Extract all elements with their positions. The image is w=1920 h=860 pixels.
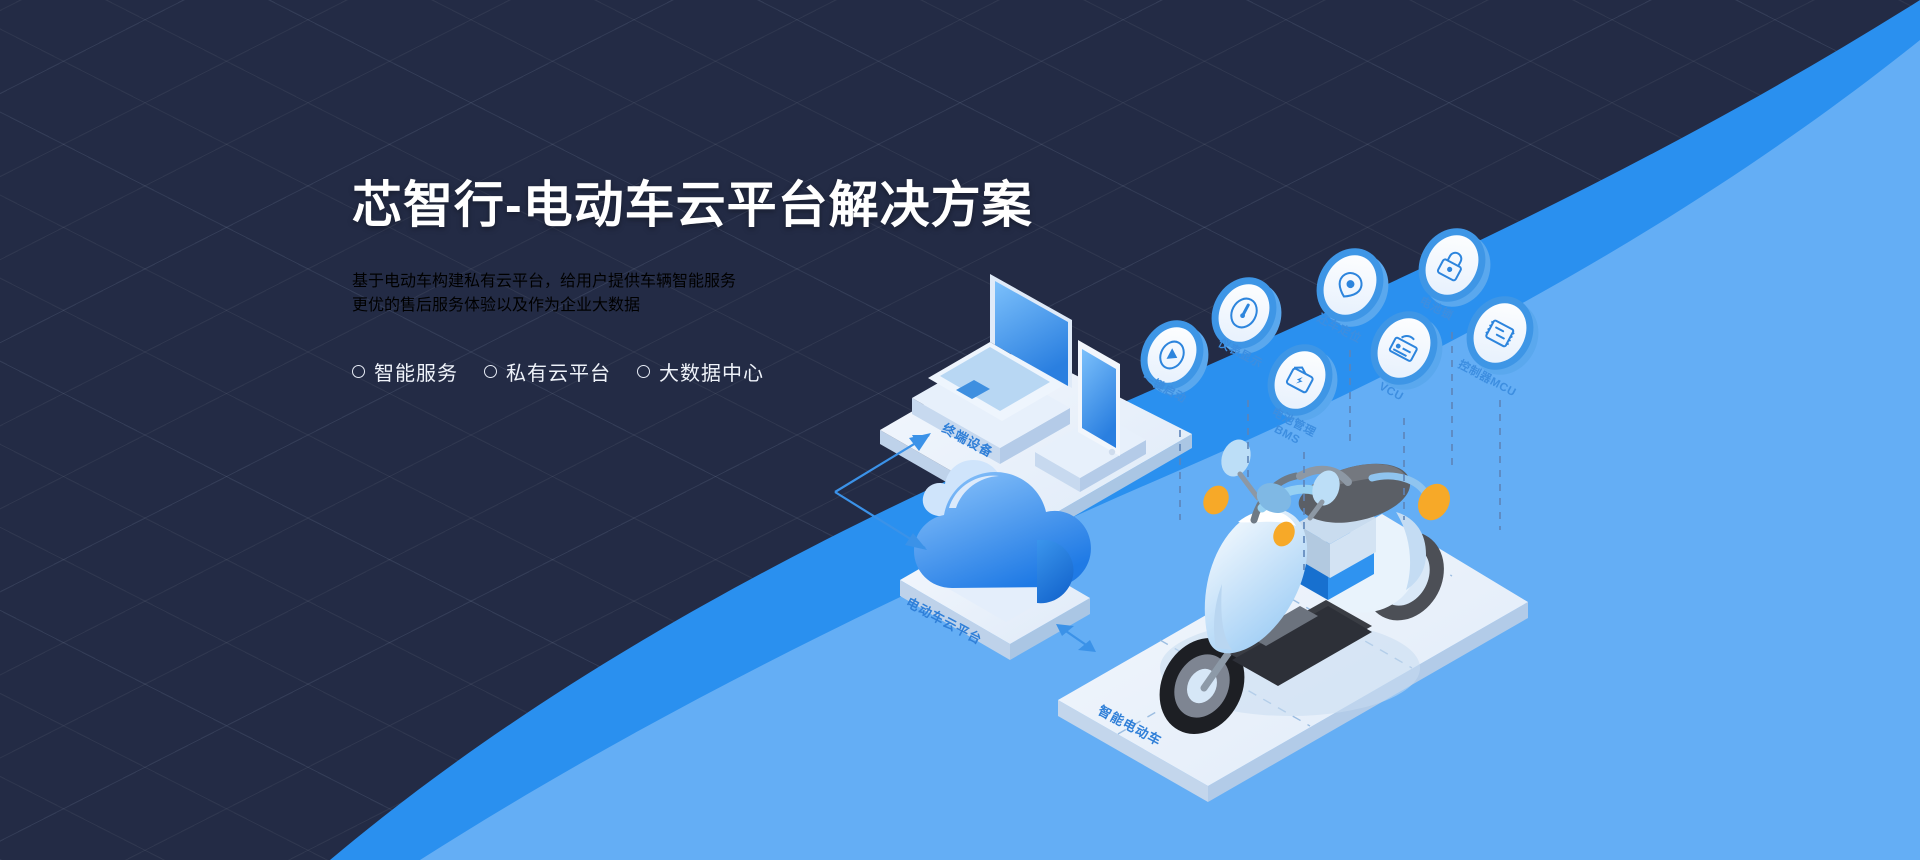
phone-riser-side [1080, 440, 1146, 492]
slab-side [1040, 434, 1192, 536]
badge-label-5: 电池锁 [1417, 294, 1456, 324]
feature-bullet-2[interactable]: 大数据中心 [637, 357, 764, 386]
badge-label-0: 一键启动 [1139, 372, 1188, 407]
badge-label-4: VCU [1376, 380, 1406, 405]
feature-bullet-label: 大数据中心 [659, 357, 764, 386]
page-title: 芯智行-电动车云平台解决方案 [352, 178, 1112, 233]
cloud-icon [914, 472, 1091, 588]
circle-ring-icon [484, 365, 497, 378]
platform-label-cloud: 电动车云平台 [903, 592, 986, 648]
feature-bullet-0[interactable]: 智能服务 [352, 357, 458, 386]
cloud-icon-shadow [1037, 540, 1073, 603]
slab-dashed-grid [1118, 524, 1452, 734]
badge-label-2: 电池管理 BMS [1262, 405, 1318, 453]
location-pin-icon [1334, 269, 1365, 301]
platform-label-vehicle: 智能电动车 [1095, 700, 1166, 750]
wave-light-blue [420, 40, 1920, 860]
connector-terminal-cloud [835, 433, 931, 550]
circle-ring-icon [637, 365, 650, 378]
control-unit-icon [1389, 331, 1420, 362]
feature-bullet-1[interactable]: 私有云平台 [484, 357, 611, 386]
mcu-chip-icon [1484, 319, 1516, 348]
slab-side [1010, 598, 1090, 660]
connector-cloud-vehicle [1056, 624, 1096, 652]
laptop-riser-side [1000, 408, 1070, 464]
badge-label-3: 还车定位 [1314, 312, 1363, 347]
power-button-icon [1156, 337, 1189, 372]
hero-copy: 芯智行-电动车云平台解决方案 基于电动车构建私有云平台，给用户提供车辆智能服务 … [352, 178, 1112, 386]
slab-top [1058, 514, 1528, 786]
platform-label-terminal: 终端设备 [939, 418, 997, 461]
cloud-icon-highlight [949, 476, 999, 508]
gauge-icon [1226, 294, 1261, 332]
feature-bullet-label: 智能服务 [374, 357, 458, 386]
badge-label-1: 仪表显示 [1215, 337, 1264, 372]
slab-top [900, 534, 1090, 644]
badge-label-6: 控制器MCU [1455, 358, 1518, 401]
feature-bullet-label: 私有云平台 [506, 357, 611, 386]
subtitle-line-1: 基于电动车构建私有云平台，给用户提供车辆智能服务 [352, 267, 1112, 291]
cloud-icon-back [923, 460, 1031, 523]
hero-banner: 芯智行-电动车云平台解决方案 基于电动车构建私有云平台，给用户提供车辆智能服务 … [0, 0, 1920, 860]
slab-side [1208, 602, 1528, 802]
scooter-icon [1143, 435, 1459, 749]
subtitle-line-2: 更优的售后服务体验以及作为企业大数据 [352, 291, 1112, 315]
phone-home-button [1109, 449, 1115, 455]
phone-riser-side [1035, 452, 1080, 492]
scooter-shadow [1160, 620, 1420, 716]
lock-icon [1437, 249, 1467, 281]
platform-cloud[interactable] [900, 460, 1091, 660]
feature-bullet-list: 智能服务 私有云平台 大数据中心 [352, 357, 1112, 386]
platform-vehicle[interactable] [1058, 435, 1528, 802]
phone-riser-top [1035, 414, 1146, 478]
battery-folder-icon [1286, 364, 1315, 393]
circle-ring-icon [352, 365, 365, 378]
badge-drop-lines [1180, 332, 1500, 570]
